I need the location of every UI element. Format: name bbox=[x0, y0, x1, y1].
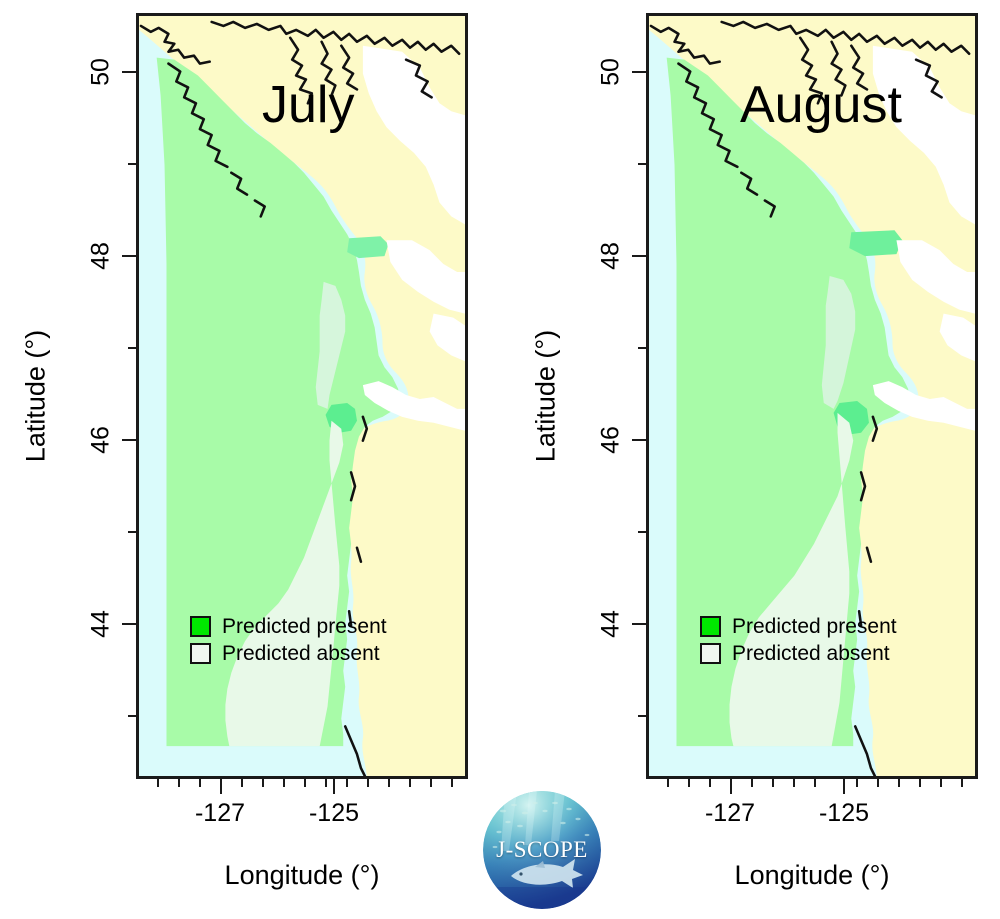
y-tick-major bbox=[632, 439, 646, 441]
x-tick-minor bbox=[262, 779, 264, 787]
y-tick-minor bbox=[638, 163, 646, 165]
x-tick-minor bbox=[241, 779, 243, 787]
y-tick-minor bbox=[638, 347, 646, 349]
x-tick-minor bbox=[199, 779, 201, 787]
x-tick-label: -127 bbox=[705, 801, 755, 826]
x-tick-major bbox=[730, 779, 732, 794]
map-panel-july: July Predicted present Predicted absent bbox=[136, 13, 468, 779]
y-axis-title-august: Latitude (°) bbox=[533, 330, 560, 462]
y-tick-label: 50 bbox=[89, 58, 114, 86]
x-tick-major bbox=[843, 779, 845, 794]
y-tick-major bbox=[122, 439, 136, 441]
y-tick-minor bbox=[128, 347, 136, 349]
legend-july: Predicted present Predicted absent bbox=[190, 614, 387, 665]
x-tick-label: -125 bbox=[819, 801, 869, 826]
x-tick-minor bbox=[814, 779, 816, 787]
y-tick-label: 46 bbox=[89, 426, 114, 454]
south-ocean-strip bbox=[139, 746, 343, 776]
y-tick-minor bbox=[128, 715, 136, 717]
legend-row: Predicted absent bbox=[190, 641, 387, 665]
x-axis-title-july: Longitude (°) bbox=[225, 862, 380, 889]
x-tick-minor bbox=[346, 779, 348, 787]
y-tick-major bbox=[632, 71, 646, 73]
x-tick-minor bbox=[430, 779, 432, 787]
y-tick-minor bbox=[638, 715, 646, 717]
strong-presence-patch-shelf-break bbox=[347, 236, 388, 258]
x-tick-minor bbox=[898, 779, 900, 787]
x-tick-minor bbox=[157, 779, 159, 787]
y-tick-label: 46 bbox=[599, 426, 624, 454]
x-tick-minor bbox=[367, 779, 369, 787]
x-tick-minor bbox=[178, 779, 180, 787]
x-tick-minor bbox=[283, 779, 285, 787]
legend-swatch-predicted-absent bbox=[700, 643, 721, 664]
legend-label-predicted-absent: Predicted absent bbox=[222, 643, 380, 664]
legend-label-predicted-present: Predicted present bbox=[732, 616, 897, 637]
x-tick-minor bbox=[688, 779, 690, 787]
y-tick-major bbox=[632, 623, 646, 625]
x-tick-major bbox=[333, 779, 335, 794]
x-tick-minor bbox=[961, 779, 963, 787]
x-tick-minor bbox=[451, 779, 453, 787]
x-tick-minor bbox=[877, 779, 879, 787]
x-tick-minor bbox=[388, 779, 390, 787]
jscope-logo[interactable]: J-SCOPE bbox=[483, 791, 601, 909]
y-axis-title-july: Latitude (°) bbox=[23, 330, 50, 462]
y-tick-major bbox=[122, 71, 136, 73]
legend-swatch-predicted-present bbox=[190, 616, 211, 637]
y-tick-minor bbox=[128, 531, 136, 533]
x-tick-minor bbox=[304, 779, 306, 787]
y-tick-major bbox=[122, 255, 136, 257]
legend-label-predicted-present: Predicted present bbox=[222, 616, 387, 637]
x-tick-minor bbox=[751, 779, 753, 787]
legend-row: Predicted present bbox=[700, 614, 897, 638]
y-tick-label: 44 bbox=[599, 610, 624, 638]
y-tick-major bbox=[632, 255, 646, 257]
x-tick-minor bbox=[940, 779, 942, 787]
x-tick-major bbox=[220, 779, 222, 794]
y-tick-minor bbox=[128, 163, 136, 165]
x-tick-minor bbox=[325, 779, 327, 787]
legend-august: Predicted present Predicted absent bbox=[700, 614, 897, 665]
panel-title-august: August bbox=[740, 79, 902, 131]
y-tick-label: 48 bbox=[89, 242, 114, 270]
x-tick-minor bbox=[667, 779, 669, 787]
legend-row: Predicted absent bbox=[700, 641, 897, 665]
figure-root: July Predicted present Predicted absent … bbox=[0, 0, 1000, 919]
x-tick-label: -125 bbox=[309, 801, 359, 826]
x-tick-minor bbox=[772, 779, 774, 787]
legend-row: Predicted present bbox=[190, 614, 387, 638]
x-tick-minor bbox=[856, 779, 858, 787]
map-panel-august: August Predicted present Predicted absen… bbox=[646, 13, 978, 779]
south-ocean-strip bbox=[649, 746, 853, 776]
x-tick-minor bbox=[709, 779, 711, 787]
jscope-logo-text: J-SCOPE bbox=[496, 837, 588, 863]
panel-title-july: July bbox=[262, 79, 354, 131]
x-tick-label: -127 bbox=[195, 801, 245, 826]
y-tick-minor bbox=[638, 531, 646, 533]
legend-swatch-predicted-present bbox=[700, 616, 721, 637]
legend-label-predicted-absent: Predicted absent bbox=[732, 643, 890, 664]
legend-swatch-predicted-absent bbox=[190, 643, 211, 664]
x-tick-minor bbox=[919, 779, 921, 787]
y-tick-major bbox=[122, 623, 136, 625]
y-tick-label: 48 bbox=[599, 242, 624, 270]
x-tick-minor bbox=[793, 779, 795, 787]
x-axis-title-august: Longitude (°) bbox=[735, 862, 890, 889]
x-tick-minor bbox=[409, 779, 411, 787]
y-tick-label: 44 bbox=[89, 610, 114, 638]
y-tick-label: 50 bbox=[599, 58, 624, 86]
